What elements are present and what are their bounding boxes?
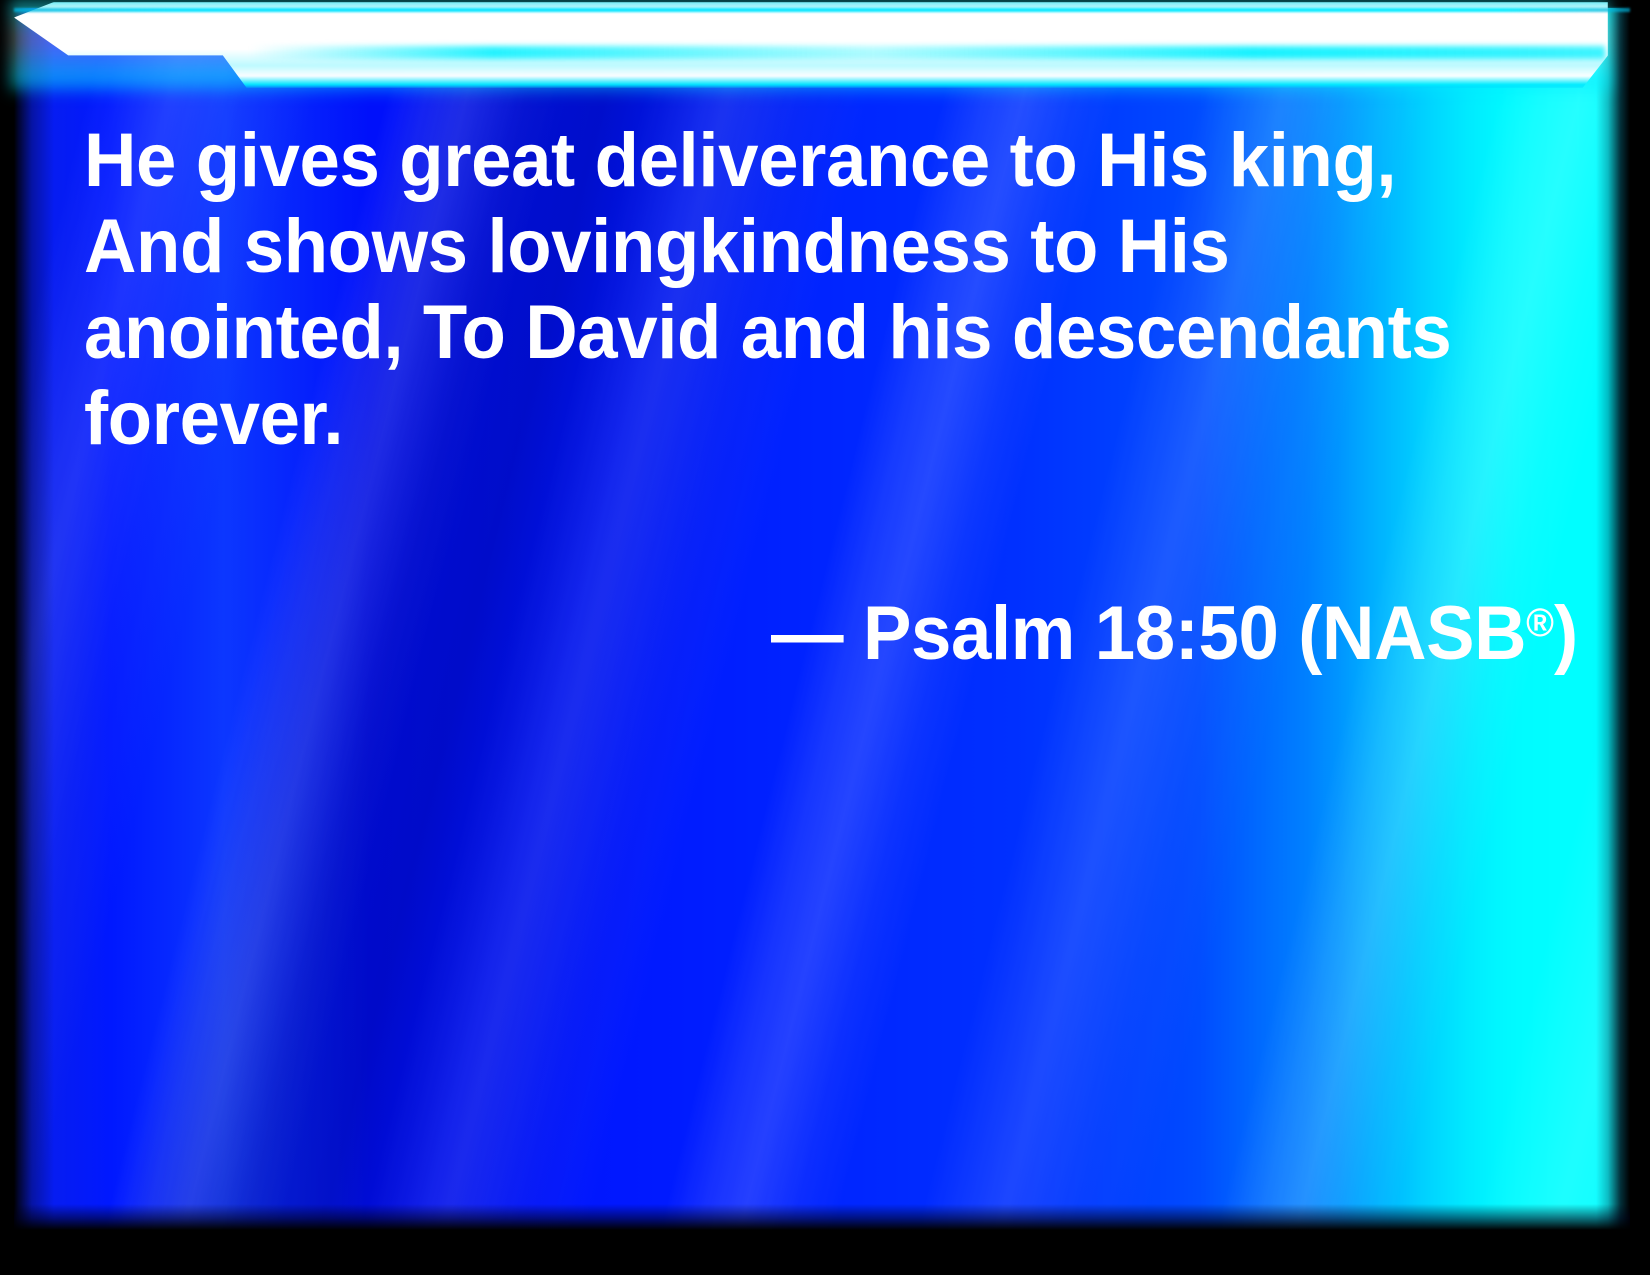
registered-trademark-icon: ® (1526, 601, 1554, 645)
attribution-translation-close: ) (1554, 591, 1578, 676)
verse-slide: He gives great deliverance to His king, … (0, 0, 1650, 1275)
attribution-translation-open: (NASB (1298, 591, 1526, 676)
attribution-dash: — (771, 591, 843, 676)
verse-attribution: — Psalm 18:50 (NASB®) (84, 580, 1578, 677)
verse-line-3: anointed, To David and his descendants (84, 290, 1364, 376)
edge-fade-right (1596, 8, 1630, 1230)
header-top-edge-line (14, 8, 1630, 12)
header-band-cyan-stripe (250, 46, 1605, 59)
attribution-book: Psalm (863, 591, 1075, 676)
edge-fade-bottom (14, 1204, 1630, 1230)
header-light-band (14, 2, 1608, 88)
verse-line-4: forever. (84, 376, 1364, 462)
edge-fade-left (14, 8, 54, 1230)
verse-line-2: And shows lovingkindness to His (84, 204, 1364, 290)
attribution-chapter-verse: 18:50 (1095, 591, 1279, 676)
verse-text-block: He gives great deliverance to His king, … (84, 118, 1424, 462)
verse-line-1: He gives great deliverance to His king, (84, 118, 1364, 204)
